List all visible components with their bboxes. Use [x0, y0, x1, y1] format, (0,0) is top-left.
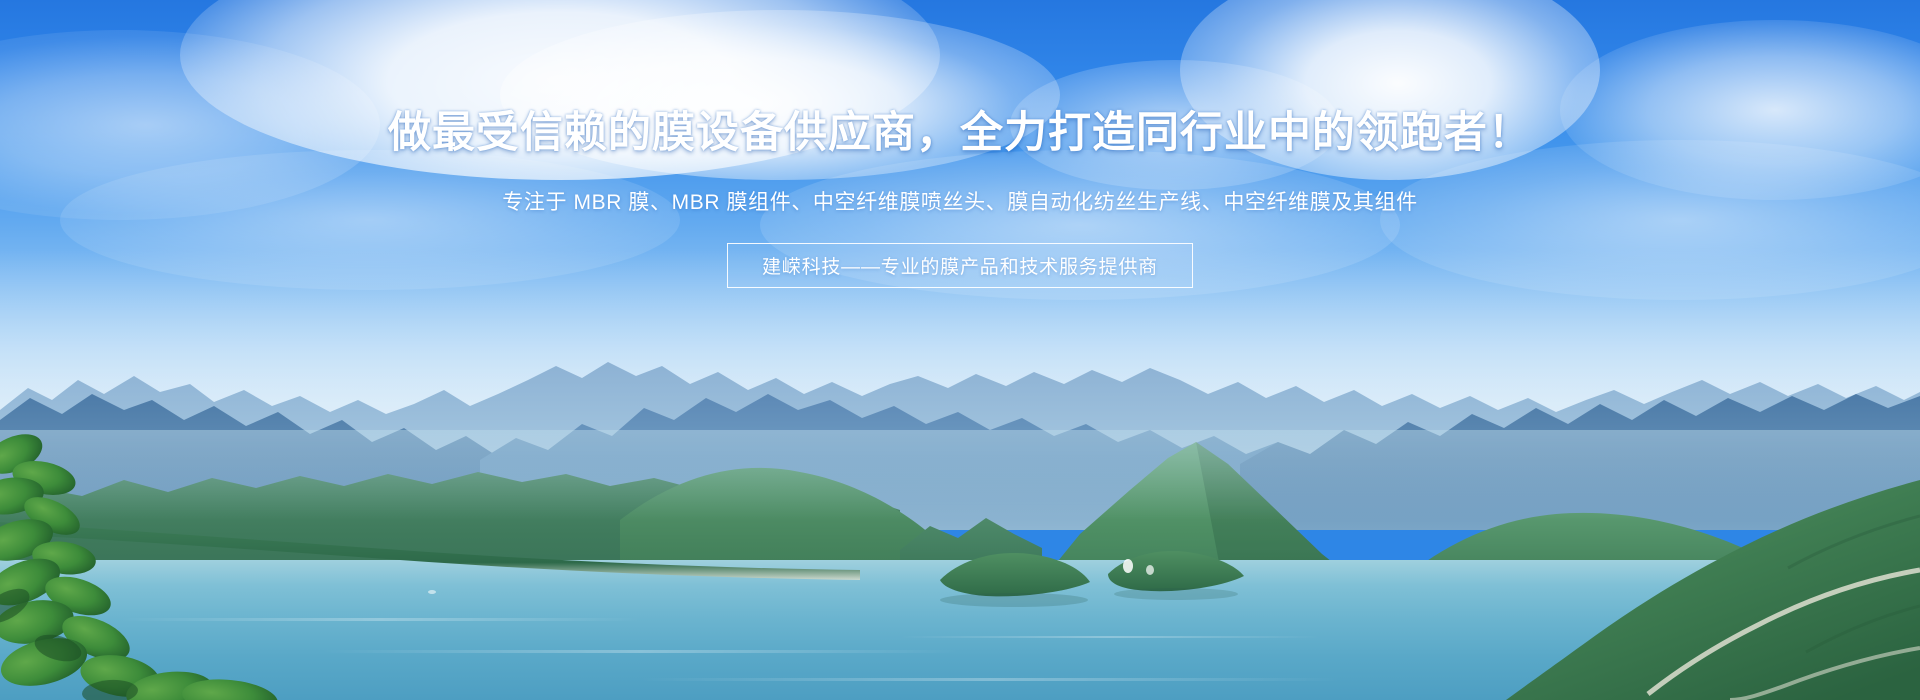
- banner-tagline-container: 建嵘科技——专业的膜产品和技术服务提供商: [0, 243, 1920, 288]
- banner-tagline: 建嵘科技——专业的膜产品和技术服务提供商: [727, 243, 1193, 288]
- hero-banner: 做最受信赖的膜设备供应商，全力打造同行业中的领跑者！ 专注于 MBR 膜、MBR…: [0, 0, 1920, 700]
- foreground-left-foliage: [0, 400, 1920, 700]
- banner-headline: 做最受信赖的膜设备供应商，全力打造同行业中的领跑者！: [0, 98, 1920, 160]
- banner-subheadline: 专注于 MBR 膜、MBR 膜组件、中空纤维膜喷丝头、膜自动化纺丝生产线、中空纤…: [0, 186, 1920, 216]
